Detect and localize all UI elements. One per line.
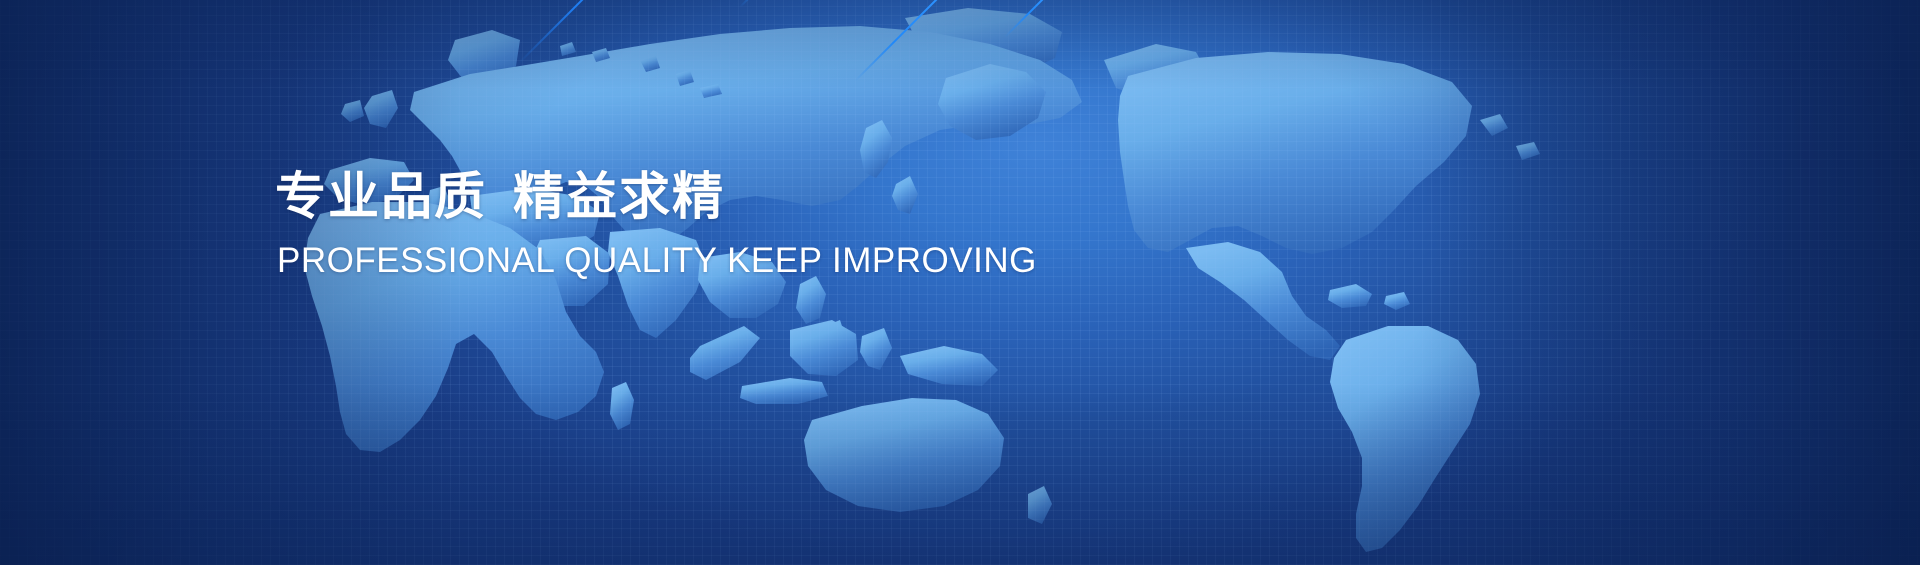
diagonal-streak-icon	[854, 0, 942, 82]
hero-banner: 专业品质精益求精 PROFESSIONAL QUALITY KEEP IMPRO…	[0, 0, 1920, 565]
light-streaks	[0, 0, 1920, 565]
banner-headline: 专业品质精益求精	[275, 168, 1175, 226]
headline-primary: 专业品质	[275, 168, 487, 225]
headline-secondary: 精益求精	[513, 168, 725, 225]
diagonal-streak-icon	[518, 0, 676, 64]
banner-copy: 专业品质精益求精 PROFESSIONAL QUALITY KEEP IMPRO…	[275, 168, 1175, 282]
banner-subheadline: PROFESSIONAL QUALITY KEEP IMPROVING	[277, 240, 1175, 282]
diagonal-streak-icon	[739, 0, 783, 8]
diagonal-streak-icon	[1004, 0, 1044, 38]
